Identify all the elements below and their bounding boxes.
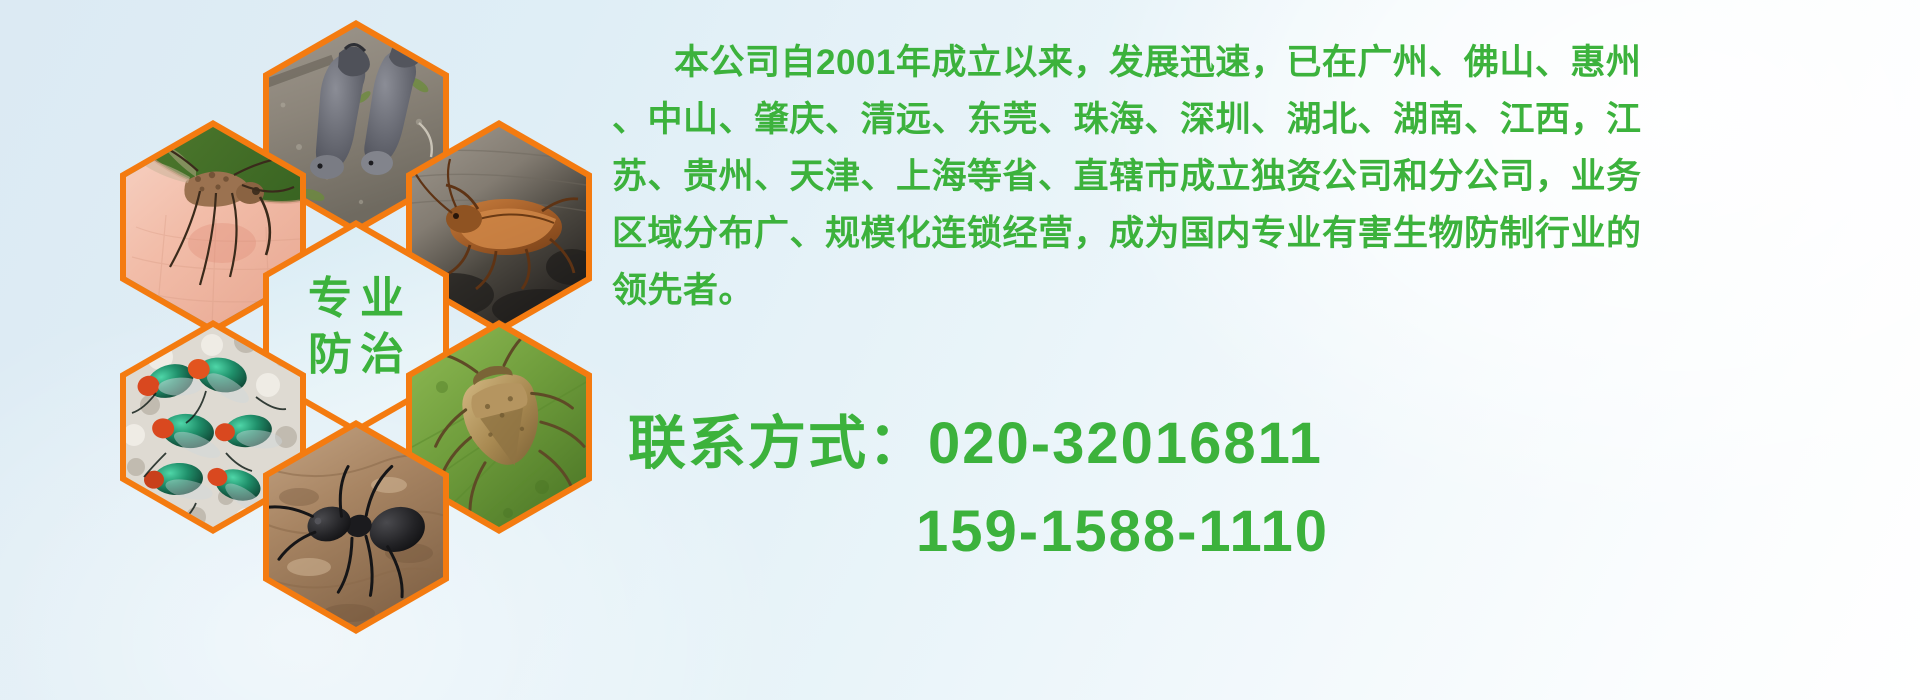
- honeycomb-collage: 专业 防治: [90, 8, 590, 568]
- ant-photo: [269, 427, 443, 627]
- slogan-line-1: 专业: [300, 271, 412, 327]
- contact-phone-secondary[interactable]: 159-1588-1110: [628, 488, 1908, 576]
- intro-line-4: 区域分布广、规模化连锁经营，成为国内专业有害生物防制行业的: [612, 205, 1880, 262]
- contact-phone-primary[interactable]: 联系方式：020-32016811: [628, 400, 1908, 488]
- contact-block: 联系方式：020-32016811 159-1588-1110: [628, 400, 1908, 576]
- intro-line-5: 领先者。: [612, 262, 1880, 319]
- pest-control-banner: 专业 防治: [0, 0, 1920, 700]
- intro-line-1: 本公司自2001年成立以来，发展迅速，已在广州、佛山、惠州: [612, 34, 1880, 91]
- company-intro-paragraph: 本公司自2001年成立以来，发展迅速，已在广州、佛山、惠州 、中山、肇庆、清远、…: [612, 34, 1880, 319]
- intro-line-3: 苏、贵州、天津、上海等省、直辖市成立独资公司和分公司，业务: [612, 148, 1880, 205]
- slogan-line-2: 防治: [300, 327, 412, 383]
- intro-line-2: 、中山、肇庆、清远、东莞、珠海、深圳、湖北、湖南、江西，江: [612, 91, 1880, 148]
